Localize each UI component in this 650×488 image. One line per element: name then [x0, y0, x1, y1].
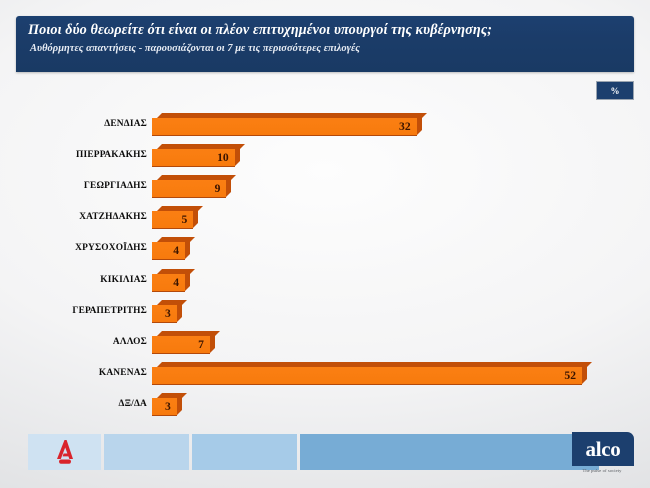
footer-bar: alco The pulse of society: [16, 434, 634, 470]
bar-value-label: 9: [152, 180, 220, 197]
bar-value-label: 3: [152, 398, 171, 415]
category-label: ΧΑΤΖΗΔΑΚΗΣ: [16, 212, 147, 222]
category-label: ΚΙΚΙΛΙΑΣ: [16, 275, 147, 285]
category-label: ΓΕΩΡΓΙΑΔΗΣ: [16, 181, 147, 191]
percent-unit-badge: %: [596, 81, 634, 100]
bar-value-label: 4: [152, 274, 179, 291]
bar-side-face: [417, 113, 422, 135]
bar-side-face: [185, 237, 190, 259]
bar-side-face: [226, 175, 231, 197]
chart-row: ΓΕΩΡΓΙΑΔΗΣ9: [16, 170, 634, 201]
bar: 4: [152, 269, 190, 291]
footer-block-2: [192, 434, 297, 470]
bar-side-face: [582, 362, 587, 384]
bar: 32: [152, 113, 422, 135]
bar-value-label: 4: [152, 242, 179, 259]
bar-side-face: [193, 206, 198, 228]
category-label: ΧΡΥΣΟΧΟΪΔΗΣ: [16, 243, 147, 253]
alco-brand-logo: alco: [572, 432, 634, 466]
bar: 5: [152, 206, 198, 228]
category-label: ΔΞ/ΔΑ: [16, 399, 147, 409]
footer-block-3: [300, 434, 599, 470]
bar: 10: [152, 144, 240, 166]
alco-a-mark-icon: [55, 439, 75, 465]
bar-value-label: 3: [152, 305, 171, 322]
footer-block-1: [104, 434, 189, 470]
bar-value-label: 10: [152, 149, 229, 166]
chart-row: ΓΕΡΑΠΕΤΡΙΤΗΣ3: [16, 295, 634, 326]
page-title: Ποιοι δύο θεωρείτε ότι είναι οι πλέον επ…: [28, 22, 624, 39]
chart-row: ΧΡΥΣΟΧΟΪΔΗΣ4: [16, 233, 634, 264]
header-band: Ποιοι δύο θεωρείτε ότι είναι οι πλέον επ…: [16, 16, 634, 72]
bar: 7: [152, 331, 215, 353]
alco-tagline: The pulse of society: [571, 468, 633, 473]
chart-row: ΔΕΝΔΙΑΣ32: [16, 108, 634, 139]
bar-side-face: [185, 269, 190, 291]
bar-value-label: 7: [152, 336, 204, 353]
chart-row: ΚΑΝΕΝΑΣ52: [16, 358, 634, 389]
bar-value-label: 5: [152, 211, 187, 228]
bar-side-face: [235, 144, 240, 166]
category-label: ΓΕΡΑΠΕΤΡΙΤΗΣ: [16, 306, 147, 316]
bar: 9: [152, 175, 231, 197]
category-label: ΚΑΝΕΝΑΣ: [16, 368, 147, 378]
chart-row: ΚΙΚΙΛΙΑΣ4: [16, 264, 634, 295]
chart-row: ΧΑΤΖΗΔΑΚΗΣ5: [16, 202, 634, 233]
category-label: ΠΙΕΡΡΑΚΑΚΗΣ: [16, 150, 147, 160]
bar-side-face: [177, 393, 182, 415]
bar: 3: [152, 393, 182, 415]
category-label: ΑΛΛΟΣ: [16, 337, 147, 347]
slide-canvas: Ποιοι δύο θεωρείτε ότι είναι οι πλέον επ…: [0, 0, 650, 488]
bar-value-label: 52: [152, 367, 576, 384]
bar-value-label: 32: [152, 118, 411, 135]
bar-side-face: [177, 300, 182, 322]
footer-logo-block: [28, 434, 101, 470]
bar: 3: [152, 300, 182, 322]
bar-chart: ΔΕΝΔΙΑΣ32ΠΙΕΡΡΑΚΑΚΗΣ10ΓΕΩΡΓΙΑΔΗΣ9ΧΑΤΖΗΔΑ…: [16, 108, 634, 424]
chart-row: ΔΞ/ΔΑ3: [16, 389, 634, 420]
category-label: ΔΕΝΔΙΑΣ: [16, 119, 147, 129]
bar-side-face: [210, 331, 215, 353]
chart-row: ΠΙΕΡΡΑΚΑΚΗΣ10: [16, 139, 634, 170]
bar: 52: [152, 362, 587, 384]
page-subtitle: Αυθόρμητες απαντήσεις - παρουσιάζονται ο…: [30, 43, 626, 54]
bar: 4: [152, 237, 190, 259]
chart-row: ΑΛΛΟΣ7: [16, 326, 634, 357]
